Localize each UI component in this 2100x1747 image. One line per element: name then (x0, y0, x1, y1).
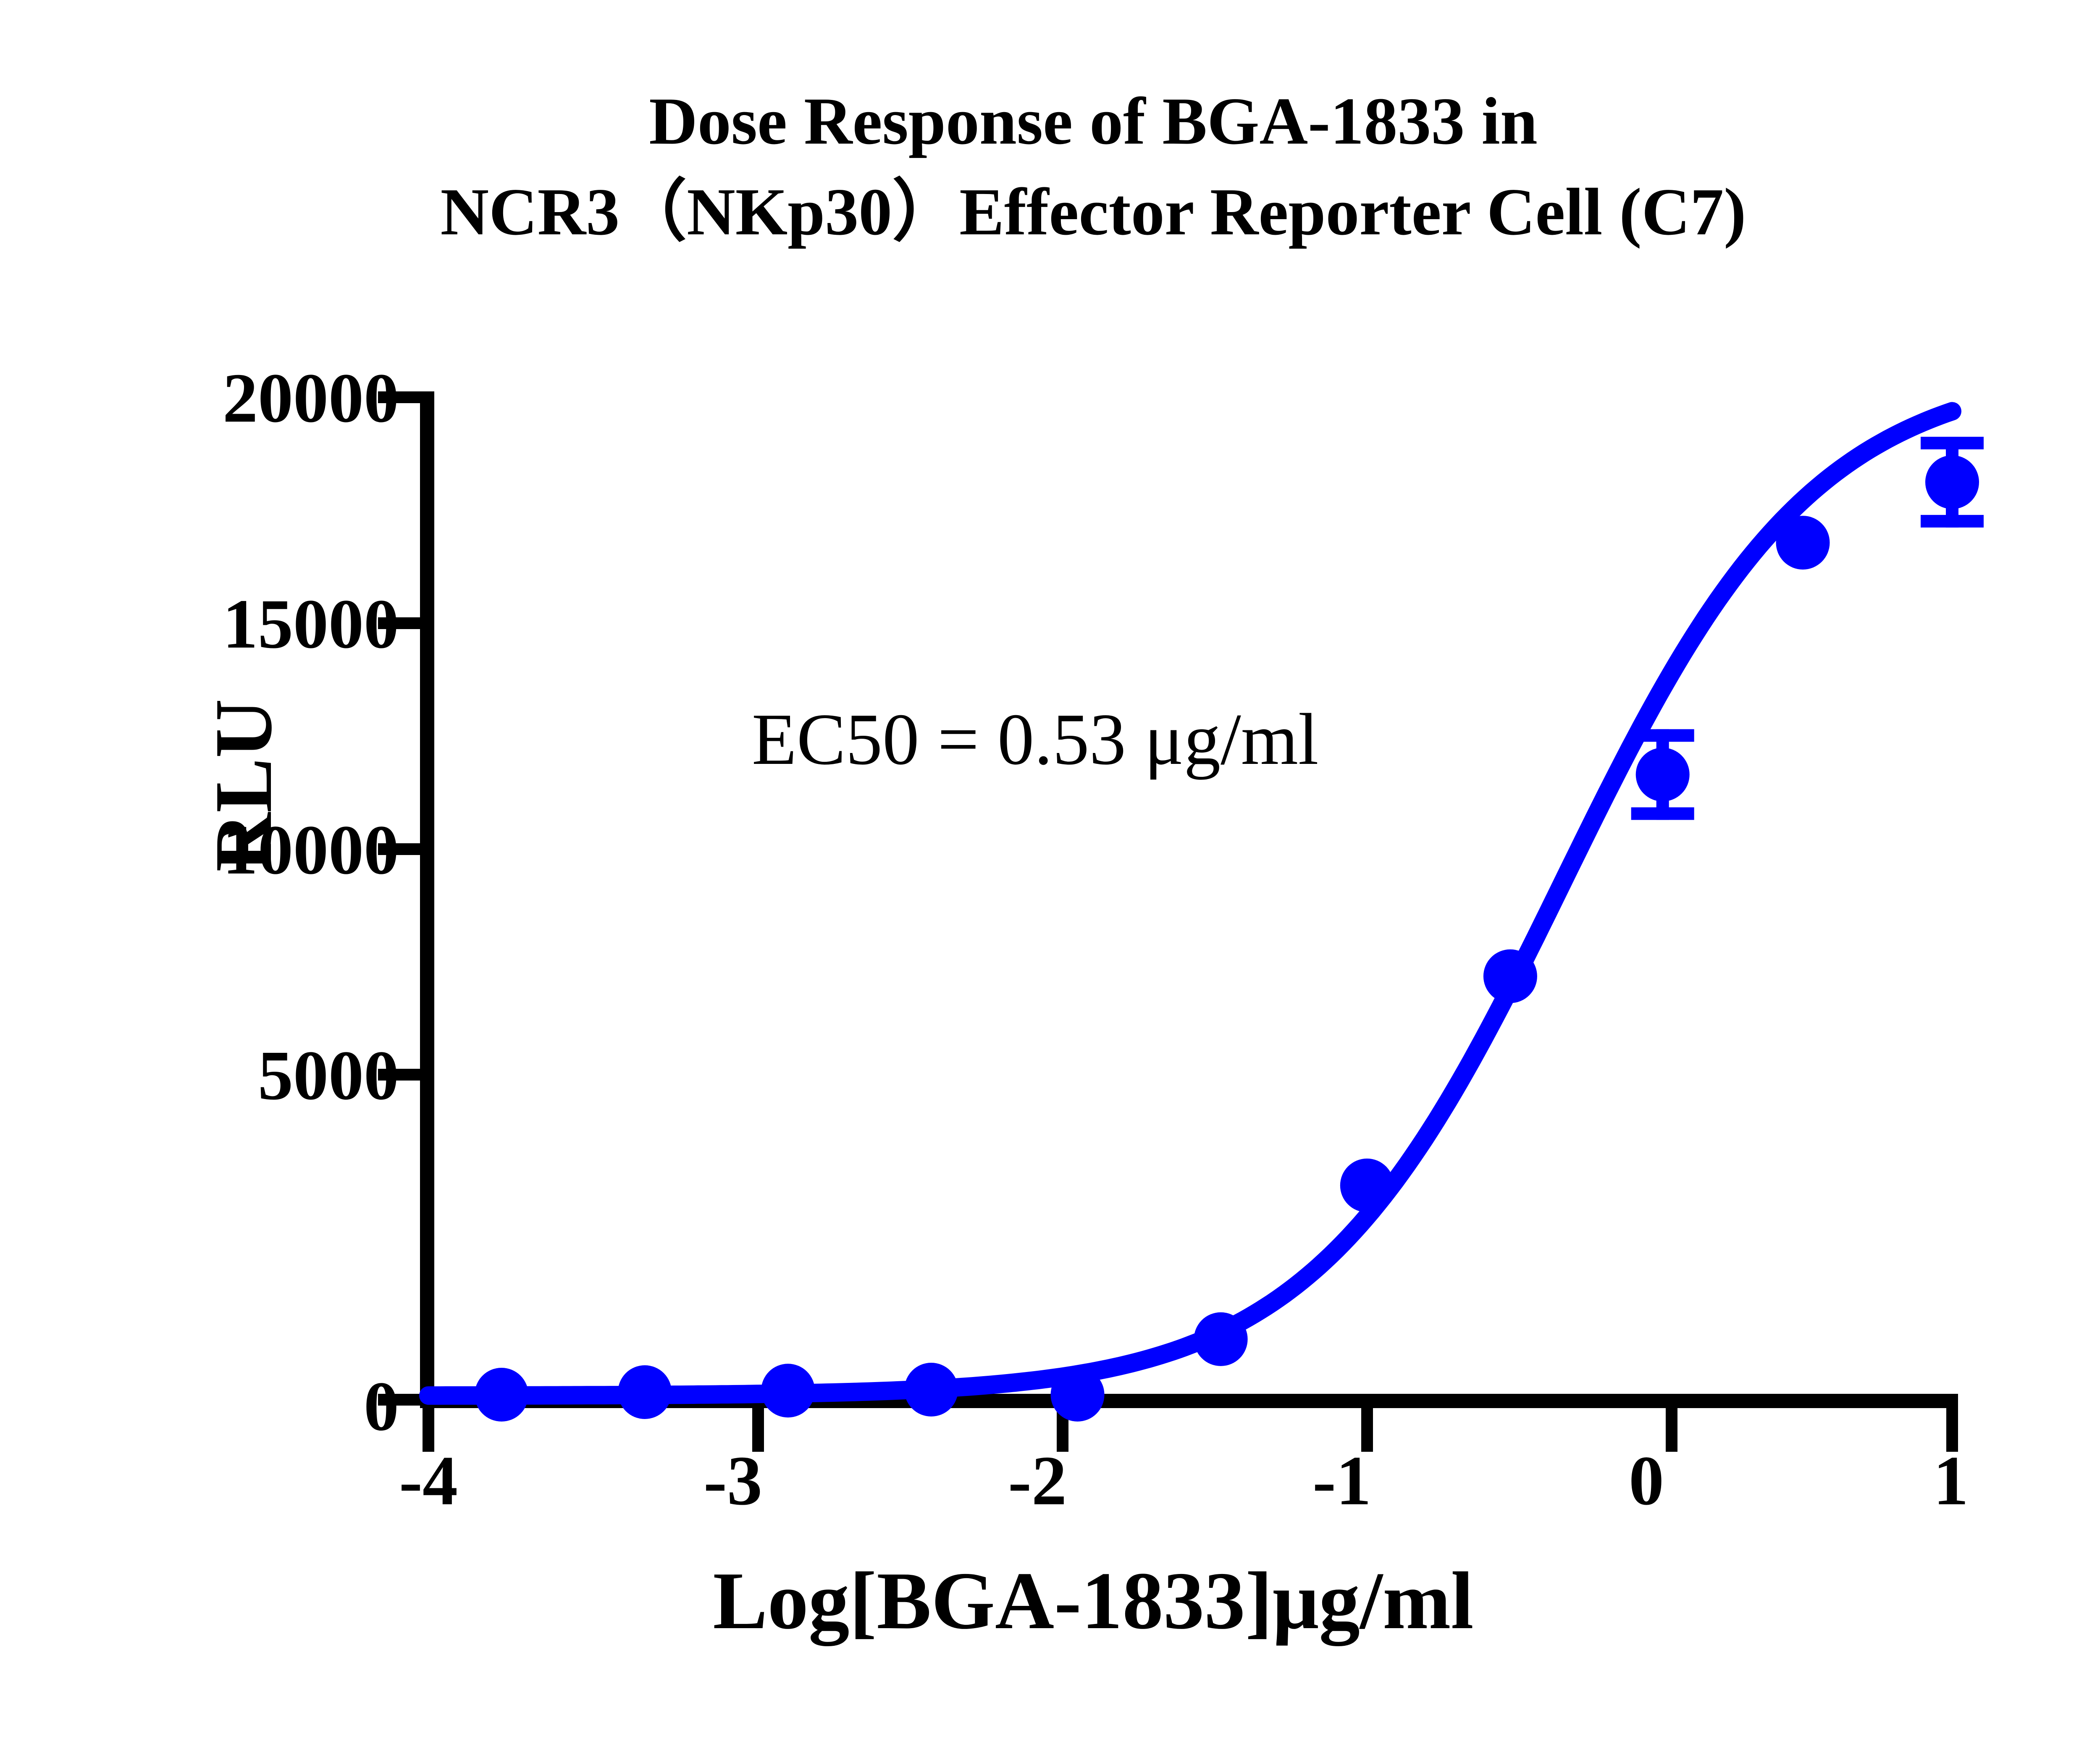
data-point-marker (761, 1364, 815, 1417)
data-point-marker (1340, 1159, 1394, 1212)
data-point-marker (1925, 455, 1979, 509)
data-point-marker (618, 1365, 672, 1419)
error-bar-cap (1631, 807, 1694, 820)
error-bar-cap (1921, 437, 1984, 449)
data-point-marker (1051, 1368, 1105, 1422)
data-point-marker (904, 1363, 958, 1416)
data-point-marker (1776, 516, 1830, 569)
error-bar-cap (1921, 515, 1984, 527)
data-point-marker (1483, 950, 1537, 1003)
data-point-marker (1194, 1312, 1248, 1366)
data-point-markers (475, 455, 1979, 1422)
y-axis-ticks (378, 391, 422, 1406)
data-point-marker (1636, 748, 1690, 801)
plot-area (0, 0, 2100, 1747)
error-bar-cap (1631, 729, 1694, 742)
y-axis-spine (420, 391, 434, 1407)
data-point-marker (475, 1368, 528, 1422)
fit-curve (428, 411, 1952, 1396)
chart-figure: Dose Response of BGA-1833 in NCR3（NKp30）… (0, 0, 2100, 1747)
